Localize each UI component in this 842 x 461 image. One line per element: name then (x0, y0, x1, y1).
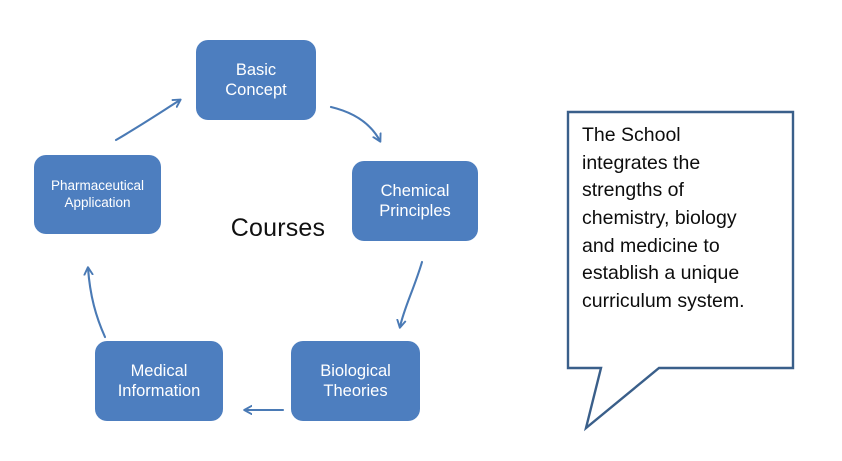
arrow-basic-to-chemical (331, 107, 380, 141)
node-chemical-principles[interactable]: Chemical Principles (352, 161, 478, 241)
callout-text: The School integrates the strengths of c… (582, 122, 794, 316)
node-basic-concept[interactable]: Basic Concept (196, 40, 316, 120)
node-medical-information[interactable]: Medical Information (95, 341, 223, 421)
arrow-pharmaceutical-to-basic (116, 100, 180, 140)
arrow-chemical-to-biological (400, 262, 422, 327)
node-pharmaceutical-application[interactable]: Pharmaceutical Application (34, 155, 161, 234)
diagram-canvas: Basic Concept Chemical Principles Biolog… (0, 0, 842, 461)
arrow-medical-to-pharmaceutical (88, 268, 105, 337)
diagram-center-label: Courses (198, 214, 358, 243)
node-biological-theories[interactable]: Biological Theories (291, 341, 420, 421)
